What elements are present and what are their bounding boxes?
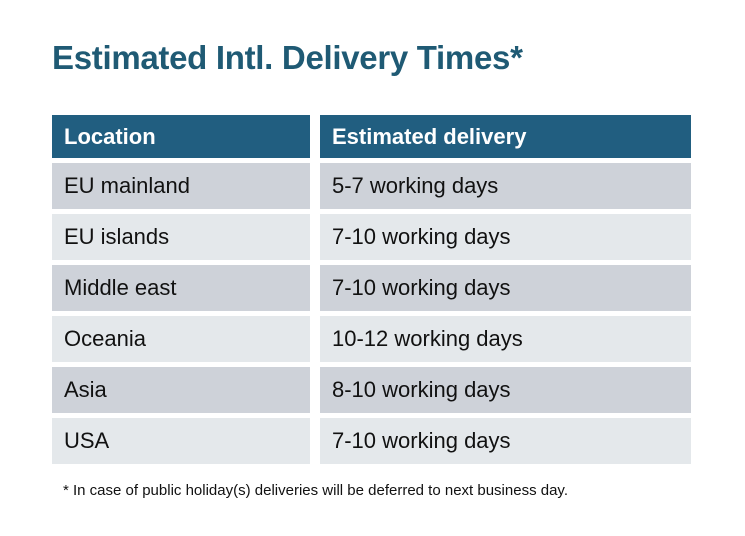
cell-delivery: 7-10 working days bbox=[320, 418, 691, 464]
cell-location: EU islands bbox=[52, 214, 310, 260]
page-title: Estimated Intl. Delivery Times* bbox=[52, 36, 523, 80]
cell-delivery: 7-10 working days bbox=[320, 265, 691, 311]
cell-delivery: 10-12 working days bbox=[320, 316, 691, 362]
cell-location: USA bbox=[52, 418, 310, 464]
table-row: Oceania 10-12 working days bbox=[52, 316, 691, 362]
table-row: USA 7-10 working days bbox=[52, 418, 691, 464]
table-row: EU mainland 5-7 working days bbox=[52, 163, 691, 209]
delivery-times-table: Location Estimated delivery EU mainland … bbox=[52, 115, 691, 464]
table-row: EU islands 7-10 working days bbox=[52, 214, 691, 260]
cell-location: Middle east bbox=[52, 265, 310, 311]
table-row: Asia 8-10 working days bbox=[52, 367, 691, 413]
column-header-estimated-delivery: Estimated delivery bbox=[320, 115, 691, 158]
cell-location: Asia bbox=[52, 367, 310, 413]
cell-location: EU mainland bbox=[52, 163, 310, 209]
table-row: Middle east 7-10 working days bbox=[52, 265, 691, 311]
column-header-location: Location bbox=[52, 115, 310, 158]
cell-delivery: 8-10 working days bbox=[320, 367, 691, 413]
delivery-times-card: Estimated Intl. Delivery Times* Location… bbox=[0, 0, 745, 536]
cell-delivery: 7-10 working days bbox=[320, 214, 691, 260]
footnote-text: * In case of public holiday(s) deliverie… bbox=[63, 481, 568, 501]
table-header-row: Location Estimated delivery bbox=[52, 115, 691, 158]
cell-location: Oceania bbox=[52, 316, 310, 362]
cell-delivery: 5-7 working days bbox=[320, 163, 691, 209]
